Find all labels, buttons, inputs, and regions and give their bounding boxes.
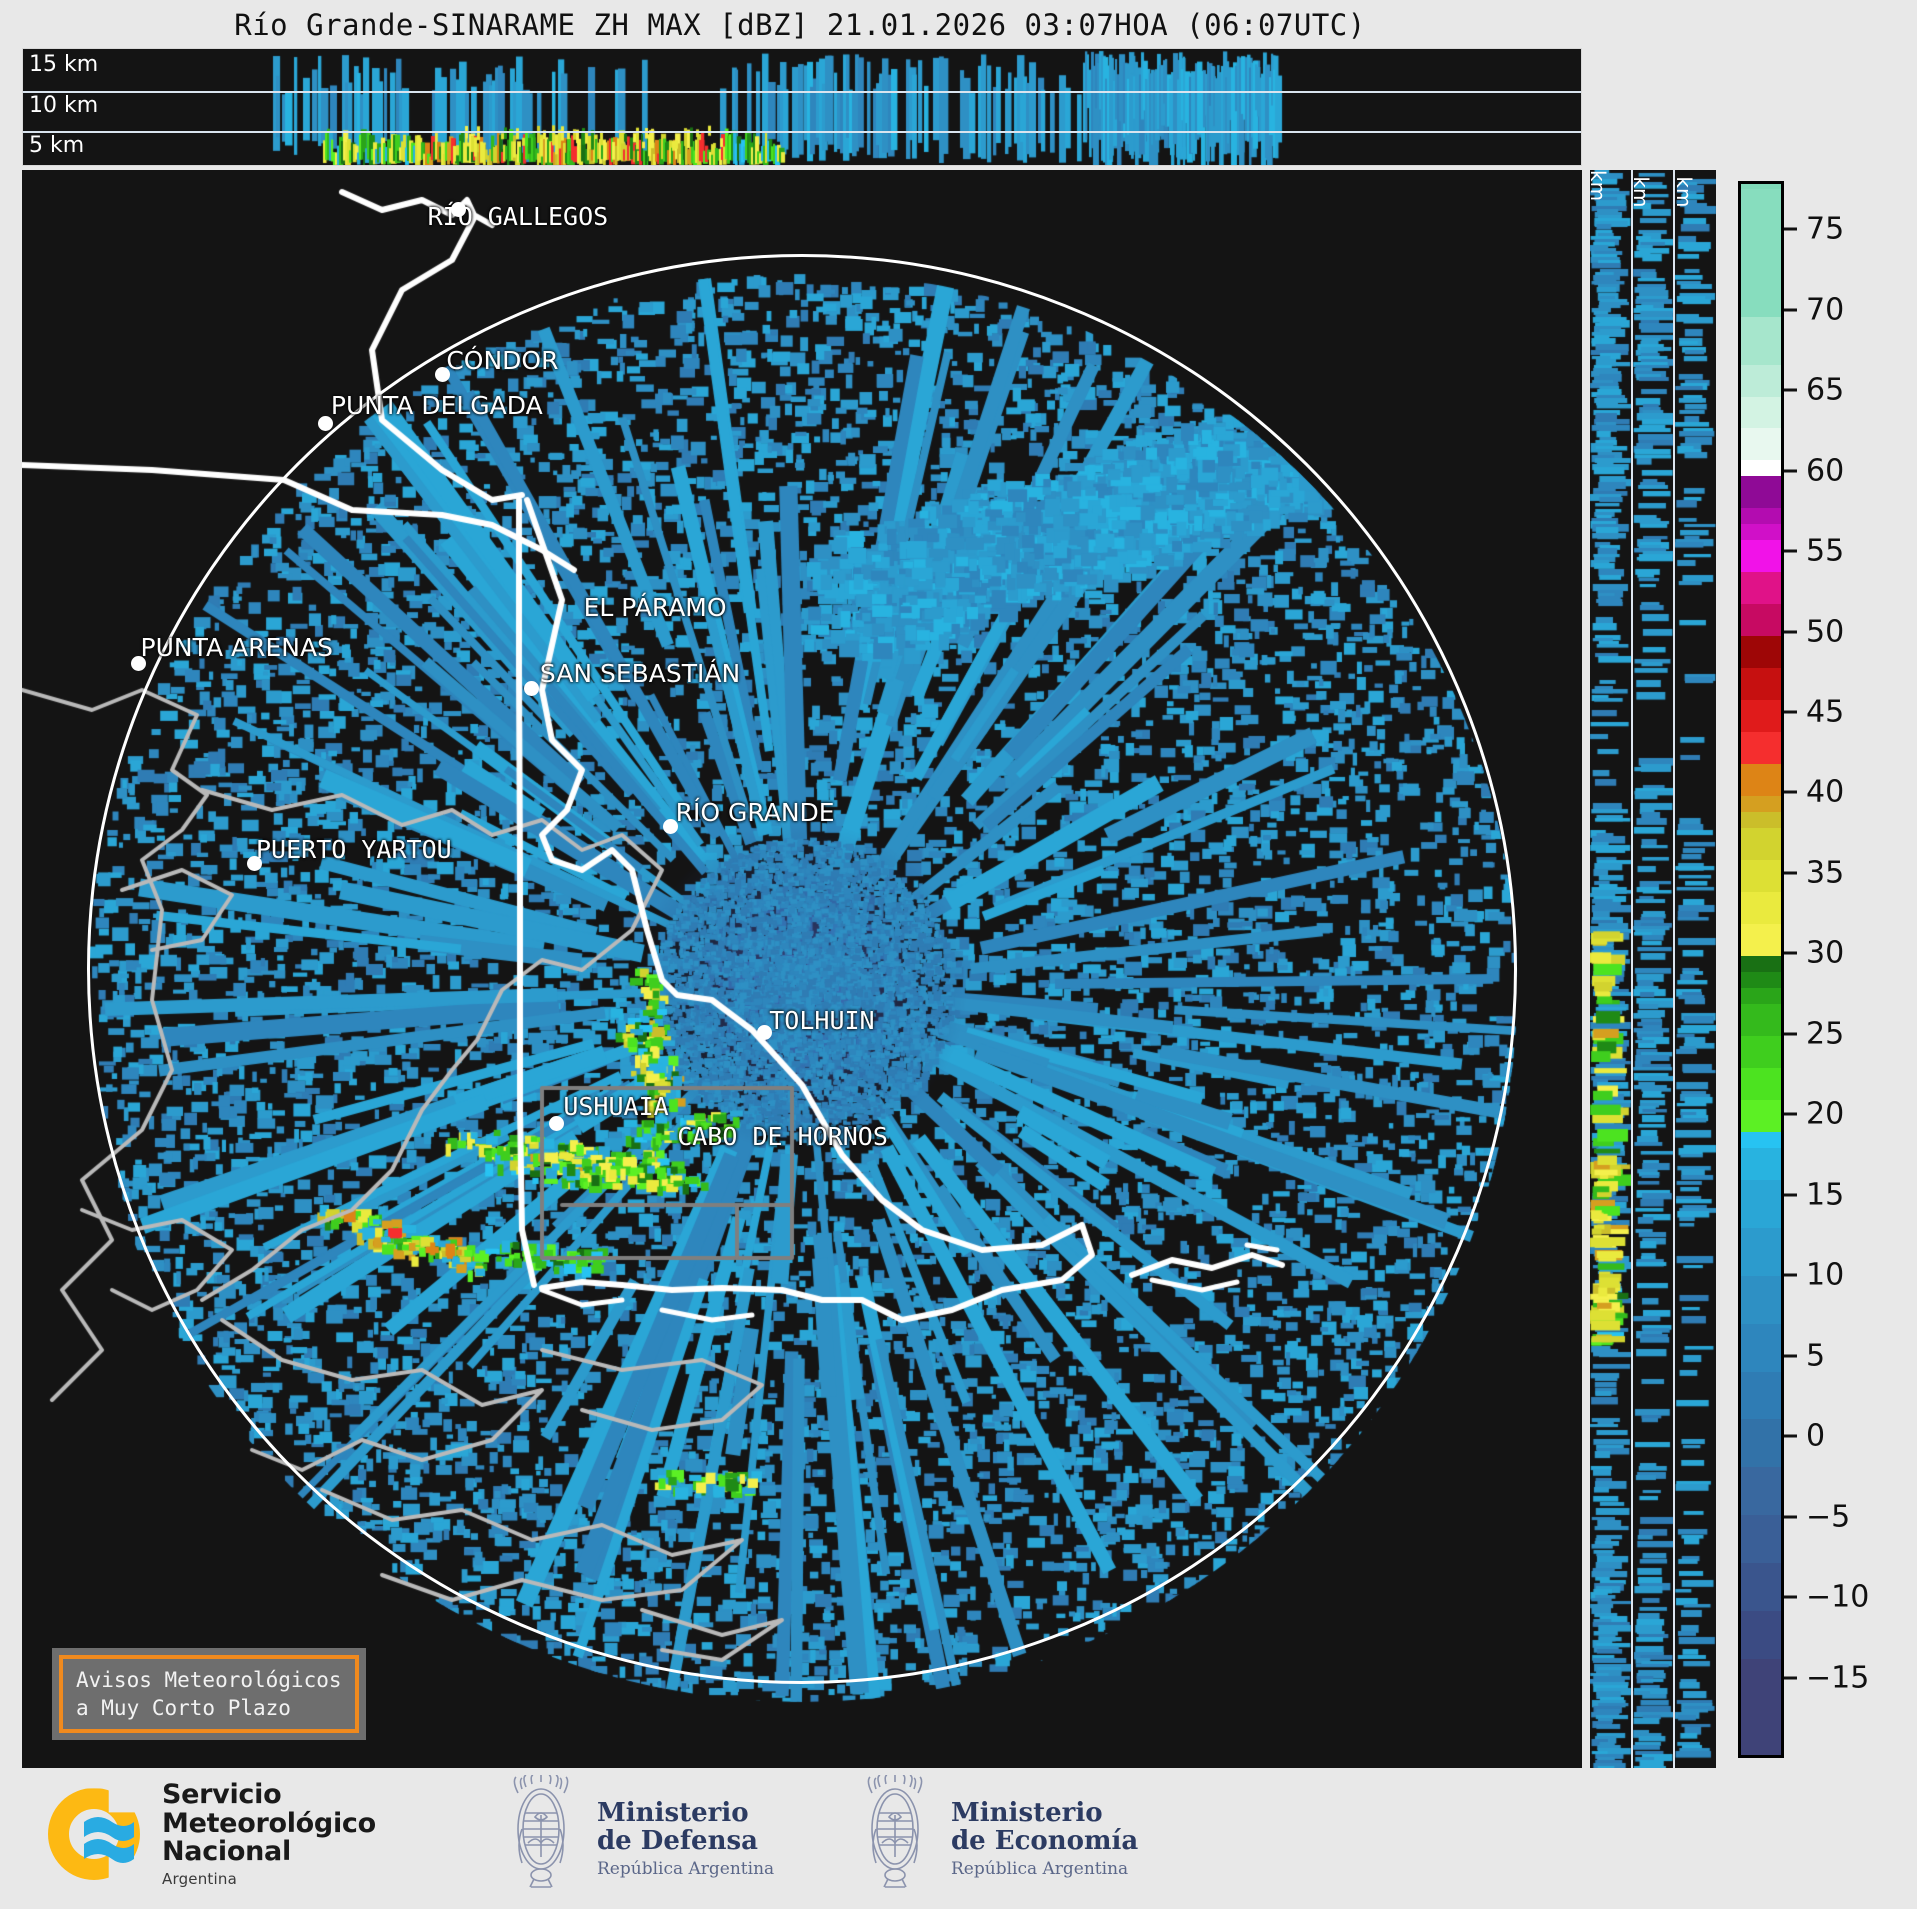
colorbar-swatch bbox=[1741, 988, 1781, 1004]
colorbar-tick-dash bbox=[1784, 1596, 1797, 1599]
colorbar-swatch bbox=[1741, 1419, 1781, 1467]
colorbar-tick-label: 25 bbox=[1806, 1016, 1844, 1051]
warning-legend-line-1: Avisos Meteorológicos bbox=[76, 1666, 342, 1694]
colorbar-swatch bbox=[1741, 812, 1781, 828]
colorbar-tick-label: 0 bbox=[1806, 1419, 1825, 1454]
city-label: SAN SEBASTIÁN bbox=[540, 659, 740, 688]
logo-ministerio-de-economia: Ministerio de Economía República Argenti… bbox=[852, 1775, 1138, 1903]
warning-legend-inner: Avisos Meteorológicos a Muy Corto Plazo bbox=[59, 1655, 359, 1733]
defensa-subline: República Argentina bbox=[597, 1859, 774, 1879]
city-marker-dot bbox=[663, 819, 678, 834]
colorbar-tick: 45 bbox=[1784, 695, 1844, 730]
logo-servicio-meteorologico-nacional: Servicio Meteorológico Nacional Argentin… bbox=[48, 1781, 376, 1888]
city-label: PUERTO YARTOU bbox=[256, 835, 452, 864]
colorbar-swatch bbox=[1741, 764, 1781, 796]
colorbar-swatch bbox=[1741, 1611, 1781, 1659]
colorbar-tick: 0 bbox=[1784, 1419, 1825, 1454]
city-label: PUNTA DELGADA bbox=[331, 391, 543, 420]
colorbar-tick: 60 bbox=[1784, 453, 1844, 488]
city-label: CABO DE HORNOS bbox=[677, 1122, 888, 1151]
radar-product-page: Río Grande-SINARAME ZH MAX [dBZ] 21.01.2… bbox=[0, 0, 1917, 1909]
colorbar-tick-label: 65 bbox=[1806, 373, 1844, 408]
economia-line-1: Ministerio bbox=[951, 1799, 1138, 1827]
colorbar-swatch bbox=[1741, 1100, 1781, 1132]
smn-line-3: Nacional bbox=[162, 1838, 376, 1867]
defensa-logo-text: Ministerio de Defensa República Argentin… bbox=[597, 1799, 774, 1879]
side-height-label-5km: 5 km bbox=[1590, 170, 1610, 201]
colorbar-swatch bbox=[1741, 892, 1781, 924]
colorbar-tick-dash bbox=[1784, 228, 1797, 231]
colorbar-tick: 50 bbox=[1784, 614, 1844, 649]
colorbar-swatch bbox=[1741, 1228, 1781, 1276]
colorbar-swatch bbox=[1741, 365, 1781, 397]
city-marker-dot bbox=[247, 856, 262, 871]
side-cross-section-5km: 5 km bbox=[1590, 170, 1631, 1768]
economia-logo-text: Ministerio de Economía República Argenti… bbox=[951, 1799, 1138, 1879]
colorbar-swatch bbox=[1741, 1707, 1781, 1755]
colorbar-swatch bbox=[1741, 604, 1781, 636]
colorbar-tick-label: 55 bbox=[1806, 534, 1844, 569]
colorbar-tick: 55 bbox=[1784, 534, 1844, 569]
city-marker-dot bbox=[451, 202, 466, 217]
colorbar-tick: 20 bbox=[1784, 1097, 1844, 1132]
colorbar-tick-dash bbox=[1784, 1274, 1797, 1277]
colorbar-tick-label: −5 bbox=[1806, 1499, 1850, 1534]
page-title: Río Grande-SINARAME ZH MAX [dBZ] 21.01.2… bbox=[0, 8, 1600, 42]
colorbar-swatch bbox=[1741, 1659, 1781, 1707]
colorbar-tick-label: 10 bbox=[1806, 1258, 1844, 1293]
economia-line-2: de Economía bbox=[951, 1827, 1138, 1855]
side-cross-section-10km: 10 km bbox=[1631, 170, 1674, 1768]
colorbar-tick: −10 bbox=[1784, 1580, 1869, 1615]
colorbar-swatch bbox=[1741, 1372, 1781, 1420]
colorbar-swatch bbox=[1741, 540, 1781, 572]
side-cross-section-15km: 15 km bbox=[1673, 170, 1716, 1768]
colorbar-tick-dash bbox=[1784, 871, 1797, 874]
colorbar-tick-dash bbox=[1784, 550, 1797, 553]
colorbar-swatch bbox=[1741, 317, 1781, 365]
smn-line-1: Servicio bbox=[162, 1781, 376, 1810]
colorbar-tick-label: 50 bbox=[1806, 614, 1844, 649]
smn-line-2: Meteorológico bbox=[162, 1810, 376, 1839]
smn-logo-text: Servicio Meteorológico Nacional Argentin… bbox=[162, 1781, 376, 1888]
colorbar-swatch bbox=[1741, 460, 1781, 476]
top-cross-section-panel: 15 km 10 km 5 km bbox=[22, 48, 1582, 166]
city-marker-dot bbox=[131, 656, 146, 671]
colorbar-swatch bbox=[1741, 972, 1781, 988]
colorbar-ticks: 757065605550454035302520151050−5−10−15 bbox=[1784, 181, 1904, 1758]
colorbar bbox=[1738, 181, 1784, 1758]
colorbar-tick: 40 bbox=[1784, 775, 1844, 810]
height-label-5km: 5 km bbox=[29, 133, 84, 158]
colorbar-swatch bbox=[1741, 397, 1781, 429]
colorbar-swatch bbox=[1741, 508, 1781, 524]
colorbar-tick-dash bbox=[1784, 1435, 1797, 1438]
colorbar-swatch bbox=[1741, 668, 1781, 700]
argentina-coat-of-arms-icon bbox=[498, 1775, 584, 1903]
logo-ministerio-de-defensa: Ministerio de Defensa República Argentin… bbox=[498, 1775, 774, 1903]
city-label: TOLHUIN bbox=[769, 1006, 874, 1035]
radar-range-ring bbox=[87, 254, 1517, 1684]
height-gridline-5km bbox=[23, 131, 1581, 133]
colorbar-tick: −15 bbox=[1784, 1660, 1869, 1695]
colorbar-swatch bbox=[1741, 1180, 1781, 1228]
side-cross-section-canvas-10km bbox=[1633, 170, 1674, 1768]
colorbar-swatch bbox=[1741, 428, 1781, 460]
side-cross-section-canvas-15km bbox=[1675, 170, 1716, 1768]
city-label: PUNTA ARENAS bbox=[141, 633, 333, 662]
colorbar-swatch bbox=[1741, 1148, 1781, 1180]
colorbar-tick-dash bbox=[1784, 1515, 1797, 1518]
colorbar-tick-label: 35 bbox=[1806, 855, 1844, 890]
colorbar-swatch bbox=[1741, 828, 1781, 860]
colorbar-tick-label: 75 bbox=[1806, 212, 1844, 247]
colorbar-tick-dash bbox=[1784, 1113, 1797, 1116]
argentina-coat-of-arms-icon bbox=[852, 1775, 938, 1903]
top-cross-section-canvas bbox=[23, 49, 1582, 166]
height-label-10km: 10 km bbox=[29, 93, 98, 118]
smn-wave-icon bbox=[48, 1782, 152, 1886]
side-cross-section-canvas-5km bbox=[1590, 170, 1631, 1768]
colorbar-tick-dash bbox=[1784, 1676, 1797, 1679]
defensa-line-2: de Defensa bbox=[597, 1827, 774, 1855]
colorbar-tick: 30 bbox=[1784, 936, 1844, 971]
colorbar-swatch bbox=[1741, 1324, 1781, 1372]
colorbar-tick-dash bbox=[1784, 1032, 1797, 1035]
colorbar-tick-dash bbox=[1784, 1354, 1797, 1357]
colorbar-swatch bbox=[1741, 1132, 1781, 1148]
colorbar-tick-label: 30 bbox=[1806, 936, 1844, 971]
radar-ppi-panel[interactable]: RÍO GALLEGOSCÓNDORPUNTA DELGADAPUNTA ARE… bbox=[22, 170, 1582, 1768]
colorbar-tick: 25 bbox=[1784, 1016, 1844, 1051]
city-marker-dot bbox=[435, 367, 450, 382]
colorbar-swatch bbox=[1741, 1563, 1781, 1611]
footer-logos: Servicio Meteorológico Nacional Argentin… bbox=[0, 1769, 1917, 1909]
colorbar-tick-dash bbox=[1784, 308, 1797, 311]
city-label: RÍO GRANDE bbox=[676, 798, 835, 827]
defensa-line-1: Ministerio bbox=[597, 1799, 774, 1827]
colorbar-swatch bbox=[1741, 1004, 1781, 1036]
colorbar-tick-label: 5 bbox=[1806, 1338, 1825, 1373]
colorbar-swatch bbox=[1741, 1276, 1781, 1324]
colorbar-tick-label: 45 bbox=[1806, 695, 1844, 730]
colorbar-swatch bbox=[1741, 1068, 1781, 1100]
colorbar-tick: 10 bbox=[1784, 1258, 1844, 1293]
side-height-label-15km: 15 km bbox=[1673, 170, 1695, 207]
colorbar-swatch bbox=[1741, 924, 1781, 956]
side-height-label-10km: 10 km bbox=[1631, 170, 1653, 207]
colorbar-tick: 15 bbox=[1784, 1177, 1844, 1212]
colorbar-tick-dash bbox=[1784, 1193, 1797, 1196]
city-label: EL PÁRAMO bbox=[584, 593, 727, 622]
colorbar-swatch bbox=[1741, 189, 1781, 317]
smn-logo-icon bbox=[48, 1782, 152, 1886]
colorbar-swatch bbox=[1741, 1515, 1781, 1563]
colorbar-swatch bbox=[1741, 732, 1781, 764]
economia-subline: República Argentina bbox=[951, 1859, 1138, 1879]
warning-legend-box[interactable]: Avisos Meteorológicos a Muy Corto Plazo bbox=[52, 1648, 366, 1740]
colorbar-tick-label: 70 bbox=[1806, 292, 1844, 327]
colorbar-tick: 5 bbox=[1784, 1338, 1825, 1373]
colorbar-tick: 65 bbox=[1784, 373, 1844, 408]
colorbar-swatch bbox=[1741, 860, 1781, 892]
colorbar-swatch bbox=[1741, 1467, 1781, 1515]
side-cross-section-panel: 5 km 10 km 15 km bbox=[1590, 170, 1716, 1768]
colorbar-swatch bbox=[1741, 476, 1781, 508]
colorbar-tick-label: −15 bbox=[1806, 1660, 1869, 1695]
smn-line-4: Argentina bbox=[162, 1870, 376, 1888]
city-label: USHUAIA bbox=[563, 1092, 668, 1121]
colorbar-swatch bbox=[1741, 1036, 1781, 1068]
colorbar-tick-dash bbox=[1784, 469, 1797, 472]
colorbar-swatch bbox=[1741, 572, 1781, 604]
colorbar-tick: 70 bbox=[1784, 292, 1844, 327]
colorbar-tick-dash bbox=[1784, 952, 1797, 955]
colorbar-tick-dash bbox=[1784, 389, 1797, 392]
colorbar-tick-label: −10 bbox=[1806, 1580, 1869, 1615]
colorbar-tick: 35 bbox=[1784, 855, 1844, 890]
colorbar-tick: −5 bbox=[1784, 1499, 1850, 1534]
height-gridline-10km bbox=[23, 91, 1581, 93]
warning-legend-line-2: a Muy Corto Plazo bbox=[76, 1694, 342, 1722]
colorbar-tick: 75 bbox=[1784, 212, 1844, 247]
colorbar-tick-label: 60 bbox=[1806, 453, 1844, 488]
colorbar-swatch bbox=[1741, 700, 1781, 732]
colorbar-swatch bbox=[1741, 956, 1781, 972]
colorbar-tick-dash bbox=[1784, 791, 1797, 794]
colorbar-tick-dash bbox=[1784, 711, 1797, 714]
colorbar-swatch bbox=[1741, 796, 1781, 812]
colorbar-tick-label: 20 bbox=[1806, 1097, 1844, 1132]
colorbar-tick-label: 40 bbox=[1806, 775, 1844, 810]
city-marker-dot bbox=[757, 1025, 772, 1040]
colorbar-swatch bbox=[1741, 636, 1781, 668]
colorbar-tick-dash bbox=[1784, 630, 1797, 633]
height-label-15km: 15 km bbox=[29, 52, 98, 77]
city-label: CÓNDOR bbox=[446, 346, 558, 375]
colorbar-tick-label: 15 bbox=[1806, 1177, 1844, 1212]
colorbar-swatch bbox=[1741, 524, 1781, 540]
